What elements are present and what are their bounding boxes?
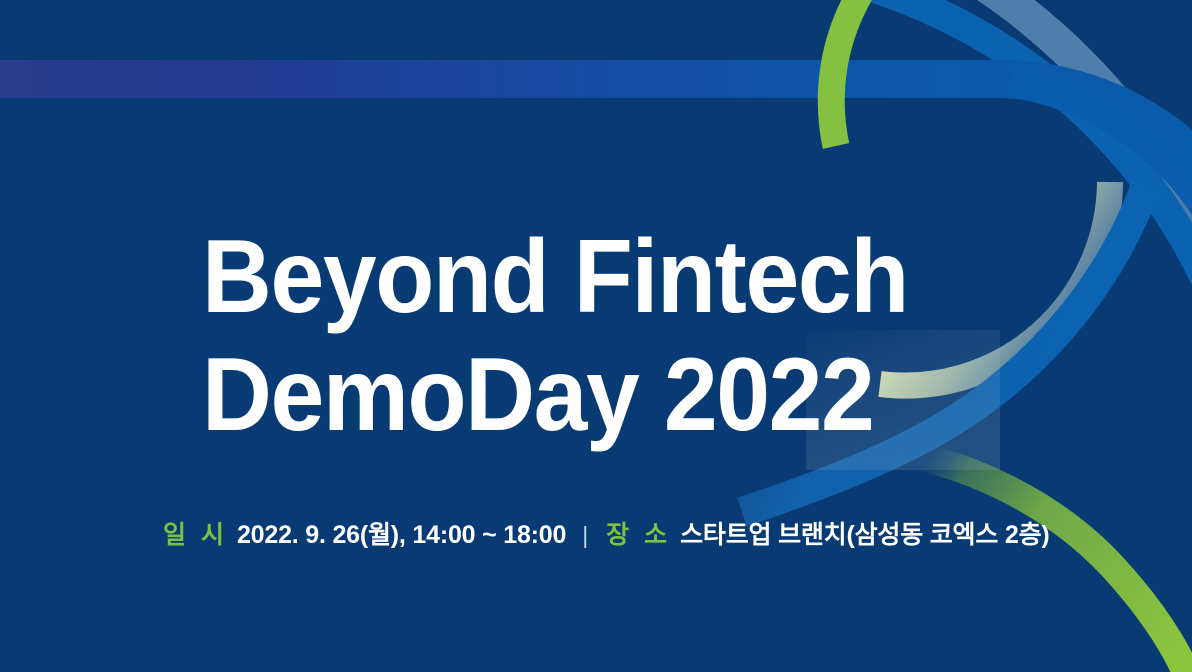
title-line-1: Beyond Fintech [202, 218, 1002, 336]
poster-canvas: Beyond Fintech DemoDay 2022 일 시 2022. 9.… [0, 0, 1192, 672]
detail-label-date: 일 시 [163, 517, 228, 553]
poster-title: Beyond Fintech DemoDay 2022 [202, 218, 1062, 454]
poster-content: Beyond Fintech DemoDay 2022 일 시 2022. 9.… [0, 0, 1192, 672]
detail-value-date: 2022. 9. 26(월), 14:00 ~ 18:00 [237, 517, 566, 553]
title-line-2: DemoDay 2022 [202, 336, 1002, 454]
detail-label-venue: 장 소 [606, 517, 671, 553]
detail-separator: | [582, 517, 588, 553]
detail-value-venue: 스타트업 브랜치(삼성동 코엑스 2층) [680, 517, 1049, 553]
event-details: 일 시 2022. 9. 26(월), 14:00 ~ 18:00 | 장 소 … [163, 517, 1050, 553]
